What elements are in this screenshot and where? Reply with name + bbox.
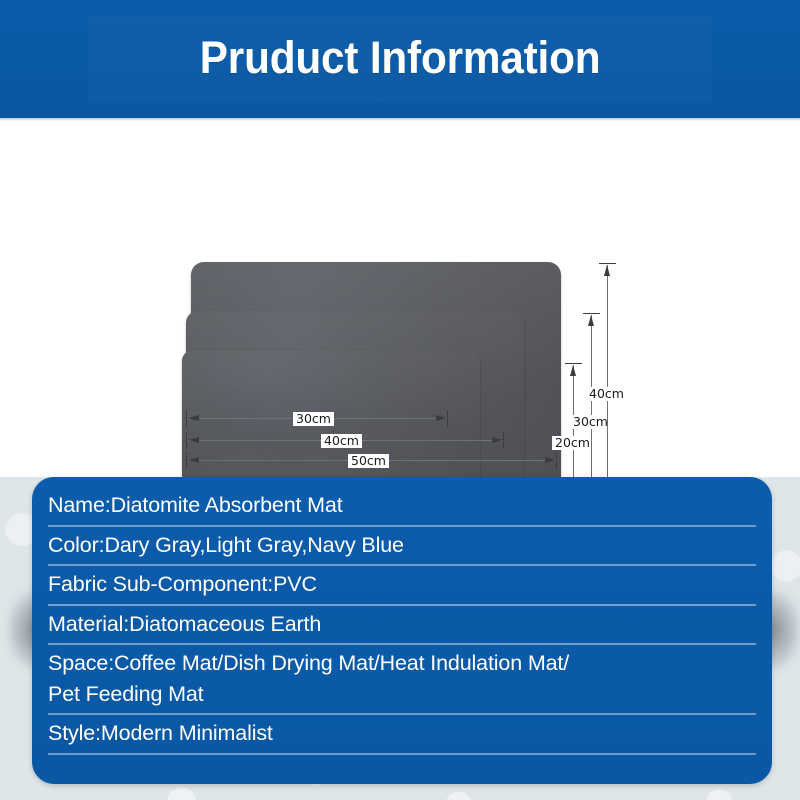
dim-30cm-tick-left <box>186 410 187 427</box>
dim-20cm-tick-top <box>565 363 582 364</box>
dim-20cm-arrow-up <box>570 365 576 376</box>
dim-30cm-v-tick-top <box>583 313 600 314</box>
spec-row-material: Material:Diatomaceous Earth <box>48 606 756 646</box>
specs-list: Name:Diatomite Absorbent Mat Color:Dary … <box>48 487 756 755</box>
spec-row-space: Space:Coffee Mat/Dish Drying Mat/Heat In… <box>48 645 756 715</box>
dim-50cm-tick-right <box>556 452 557 469</box>
dim-20cm-label: 20cm <box>552 436 593 450</box>
specs-panel: Name:Diatomite Absorbent Mat Color:Dary … <box>32 477 772 784</box>
spec-row-name: Name:Diatomite Absorbent Mat <box>48 487 756 527</box>
dim-40cm-arrow-right <box>492 437 503 443</box>
dim-30cm-v-arrow-up <box>588 315 594 326</box>
spec-fabric-text: Fabric Sub-Component:PVC <box>48 569 756 600</box>
dim-50cm-arrow-left <box>188 457 199 463</box>
dim-50cm-tick-left <box>186 452 187 469</box>
dim-40cm-arrow-left <box>188 437 199 443</box>
page-header: Pruduct Information <box>0 0 800 118</box>
dim-30cm-tick-right <box>447 410 448 427</box>
spec-row-fabric-sub-component: Fabric Sub-Component:PVC <box>48 566 756 606</box>
dim-40cm-tick-right <box>503 432 504 449</box>
spec-material-text: Material:Diatomaceous Earth <box>48 609 756 640</box>
dim-30cm-label: 30cm <box>293 412 334 426</box>
spec-row-color: Color:Dary Gray,Light Gray,Navy Blue <box>48 527 756 567</box>
spec-space-text-line2: Pet Feeding Mat <box>48 679 756 710</box>
page-title: Pruduct Information <box>200 35 601 80</box>
dim-40cm-label: 40cm <box>321 434 362 448</box>
dim-40cm-v-tick-top <box>599 263 616 264</box>
spec-style-text: Style:Modern Minimalist <box>48 718 756 749</box>
spec-color-text: Color:Dary Gray,Light Gray,Navy Blue <box>48 530 756 561</box>
dim-30cm-arrow-right <box>436 415 447 421</box>
dim-30cm-arrow-left <box>188 415 199 421</box>
product-information-page: Pruduct Information 30cm 40cm <box>0 0 800 800</box>
dim-40cm-v-label: 40cm <box>586 387 627 401</box>
spec-row-style: Style:Modern Minimalist <box>48 715 756 755</box>
dim-40cm-v-arrow-up <box>604 265 610 276</box>
dim-30cm-v-label: 30cm <box>570 415 611 429</box>
spec-name-text: Name:Diatomite Absorbent Mat <box>48 490 756 521</box>
dim-50cm-arrow-right <box>545 457 556 463</box>
dim-40cm-tick-left <box>186 432 187 449</box>
product-image-stage: 30cm 40cm 50cm 20cm 30cm <box>0 121 800 477</box>
spec-space-text-line1: Space:Coffee Mat/Dish Drying Mat/Heat In… <box>48 648 756 679</box>
dim-50cm-label: 50cm <box>348 454 389 468</box>
